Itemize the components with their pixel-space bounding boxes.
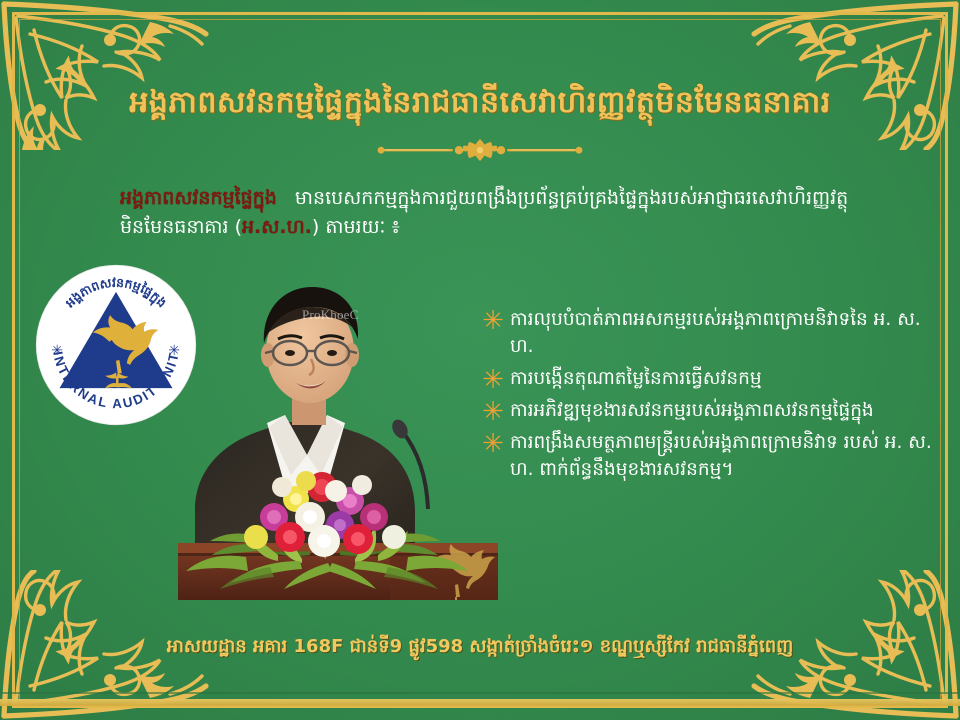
list-item: ✳ ការពង្រឹងសមត្ថភាពមន្ត្រីរបស់អង្គភាពក្រ…	[480, 429, 946, 484]
footer-address: អាសយដ្ឋាន អគារ 168F ជាន់ទី9 ផ្លូវ598 សង្…	[0, 636, 960, 658]
page-title-text: អង្គភាពសវនកម្មផ្ទៃក្នុងនៃរាជធានីសេវាហិរញ…	[0, 84, 960, 122]
frame-bottom-gold-band	[0, 699, 960, 706]
asterisk-bullet-icon: ✳	[480, 399, 506, 425]
frame-bottom-shadow	[0, 692, 960, 694]
bullet-list: ✳ ការលុបបំបាត់ភាពអសកម្មរបស់អង្គភាពក្រោមន…	[480, 306, 946, 488]
list-item: ✳ ការអភិវឌ្ឍមុខងារសវនកម្មរបស់អង្គភាពសវនក…	[480, 397, 946, 425]
asterisk-bullet-icon: ✳	[480, 367, 506, 393]
asterisk-bullet-icon: ✳	[480, 431, 506, 457]
list-item-label: ការពង្រឹងសមត្ថភាពមន្ត្រីរបស់អង្គភាពក្រោម…	[506, 429, 946, 484]
list-item-label: ការលុបបំបាត់ភាពអសកម្មរបស់អង្គភាពក្រោមនិវ…	[506, 306, 946, 361]
photo-watermark: ProKhoeC	[302, 307, 359, 323]
intro-abbrev-bold: អ.ស.ហ.	[242, 216, 312, 238]
page-title: អង្គភាពសវនកម្មផ្ទៃក្នុងនៃរាជធានីសេវាហិរញ…	[0, 84, 960, 122]
intro-lead-bold: អង្គភាពសវនកម្មផ្ទៃក្នុង	[120, 187, 277, 209]
asterisk-bullet-icon: ✳	[480, 308, 506, 334]
gold-floral-divider-icon	[365, 137, 595, 163]
list-item: ✳ ការលុបបំបាត់ភាពអសកម្មរបស់អង្គភាពក្រោមន…	[480, 306, 946, 361]
poster-canvas: អង្គភាពសវនកម្មផ្ទៃក្នុងនៃរាជធានីសេវាហិរញ…	[0, 0, 960, 720]
emblem-star-left: ✳	[51, 343, 63, 359]
intro-paragraph: អង្គភាពសវនកម្មផ្ទៃក្នុង មានបេសកកម្មក្នុង…	[120, 184, 900, 241]
list-item-label: ការអភិវឌ្ឍមុខងារសវនកម្មរបស់អង្គភាពសវនកម្…	[506, 397, 874, 424]
list-item-label: ការបង្កើនតុណាតម្លៃនៃការធ្វើសវនកម្ម	[506, 365, 762, 392]
list-item: ✳ ការបង្កើនតុណាតម្លៃនៃការធ្វើសវនកម្ម	[480, 365, 946, 393]
intro-tail: ) តាមរយៈ ៖	[312, 216, 400, 238]
